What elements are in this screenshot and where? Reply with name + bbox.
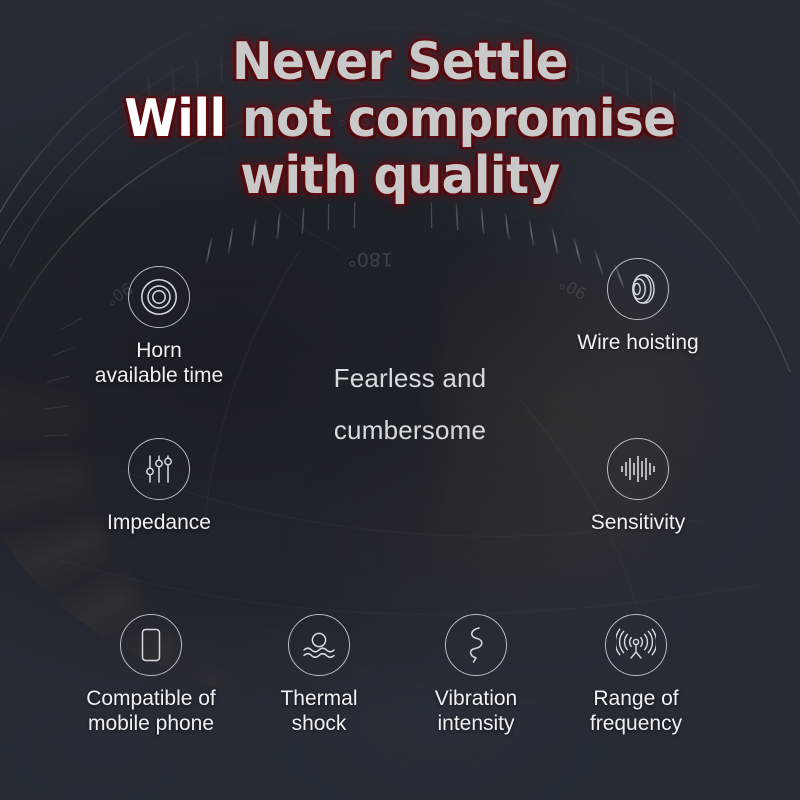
feature-label: Thermal shock — [246, 686, 392, 736]
tagline-line-2: cumbersome — [270, 404, 550, 456]
feature-horn-available-time[interactable]: Horn available time — [39, 266, 279, 388]
feature-label: Wire hoisting — [518, 330, 758, 355]
headline-line-3: with quality — [240, 146, 560, 206]
feature-vibration-intensity[interactable]: Vibration intensity — [396, 614, 556, 736]
mobile-phone-icon — [120, 614, 182, 676]
sun-over-water-icon — [288, 614, 350, 676]
headline-line-2-rest: not compromise — [226, 89, 676, 149]
feature-label: Compatible of mobile phone — [62, 686, 240, 736]
feature-thermal-shock[interactable]: Thermal shock — [246, 614, 392, 736]
tagline-line-1: Fearless and — [270, 352, 550, 404]
concentric-circles-icon — [128, 266, 190, 328]
radio-signal-icon — [605, 614, 667, 676]
feature-label: Range of frequency — [556, 686, 716, 736]
feature-wire-hoisting[interactable]: Wire hoisting — [518, 258, 758, 355]
feature-sensitivity[interactable]: Sensitivity — [518, 438, 758, 535]
feature-impedance[interactable]: Impedance — [39, 438, 279, 535]
feature-compatible-mobile-phone[interactable]: Compatible of mobile phone — [62, 614, 240, 736]
feature-range-of-frequency[interactable]: Range of frequency — [556, 614, 716, 736]
feature-label: Vibration intensity — [396, 686, 556, 736]
feature-label: Impedance — [39, 510, 279, 535]
feature-label: Sensitivity — [518, 510, 758, 535]
product-feature-poster: 180° 180° 90° 90° — [0, 0, 800, 800]
feature-label: Horn available time — [39, 338, 279, 388]
headline-line-1: Never Settle — [232, 32, 568, 92]
equalizer-sliders-icon — [128, 438, 190, 500]
page-headline: Never Settle Will not compromise with qu… — [28, 34, 772, 205]
zigzag-wave-icon — [445, 614, 507, 676]
wire-coil-icon — [607, 258, 669, 320]
headline-line-2-lead: Will — [124, 89, 225, 149]
audio-waveform-icon — [607, 438, 669, 500]
center-tagline: Fearless and cumbersome — [270, 352, 550, 456]
